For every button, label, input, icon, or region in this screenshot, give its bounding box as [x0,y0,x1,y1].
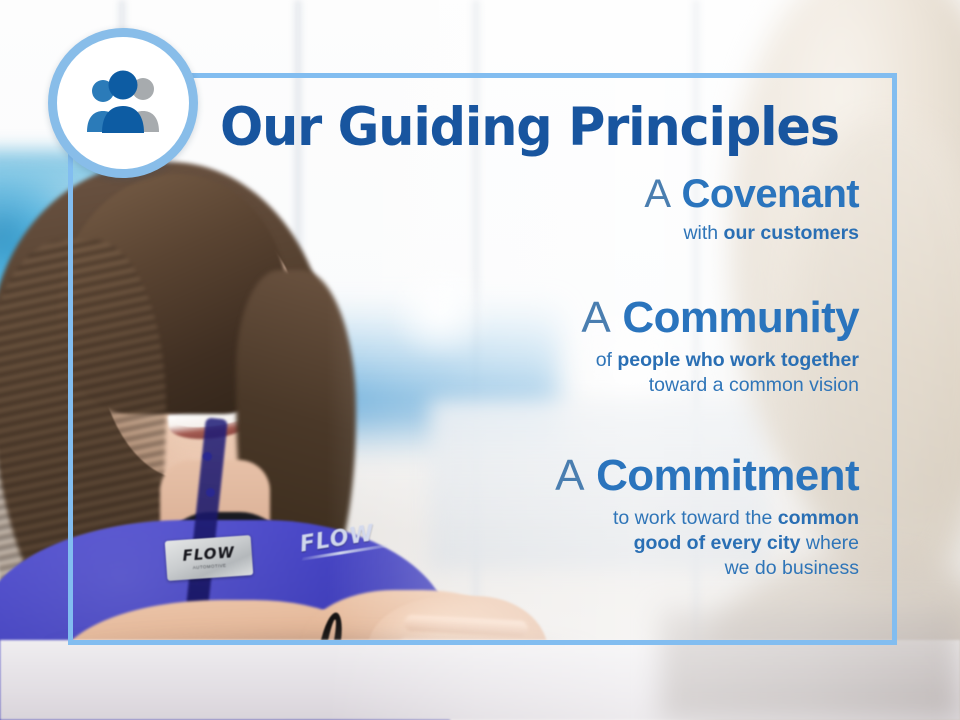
principle-heading: A Community [68,295,859,342]
subline-part-bold: our customers [724,222,859,244]
subline-part: of [596,349,618,371]
principle-subline: to work toward the common [68,506,859,531]
principle-article: A [581,293,610,342]
principle-community: A Community of people who work together … [68,295,897,398]
principle-heading: A Covenant [68,173,859,215]
principle-subline: with our customers [68,221,859,246]
subline-part-bold: people who work together [617,349,859,371]
subline-part: to work toward the [613,507,778,529]
principle-subline: we do business [68,556,859,581]
people-group-badge [48,28,198,178]
subline-part: with [683,222,723,244]
principle-subtext: of people who work together toward a com… [68,348,859,399]
page-title: Our Guiding Principles [220,97,839,158]
subline-part: we do business [725,557,859,579]
subline-part: where [800,532,859,554]
principle-subtext: with our customers [68,221,859,246]
principle-subline: toward a common vision [68,373,859,398]
principle-subline: good of every city where [68,531,859,556]
principle-commitment: A Commitment to work toward the common g… [68,453,897,582]
principle-article: A [644,172,671,216]
principle-covenant: A Covenant with our customers [68,173,897,247]
people-group-icon [79,70,167,136]
principle-keyword: Community [622,293,859,342]
principle-heading: A Commitment [68,453,859,500]
poster-content: Our Guiding Principles A Covenant with o… [68,73,897,645]
subline-part-bold: common [778,507,859,529]
principle-article: A [555,451,584,500]
principle-subline: of people who work together [68,348,859,373]
subline-part: toward a common vision [649,374,859,396]
subline-part-bold: good of every city [634,532,801,554]
principle-subtext: to work toward the common good of every … [68,506,859,582]
principle-keyword: Commitment [596,451,859,500]
guiding-principles-poster: FLOW AUTOMOTIVE FLOW Our Guiding Princip… [0,0,960,720]
principle-keyword: Covenant [682,172,859,216]
